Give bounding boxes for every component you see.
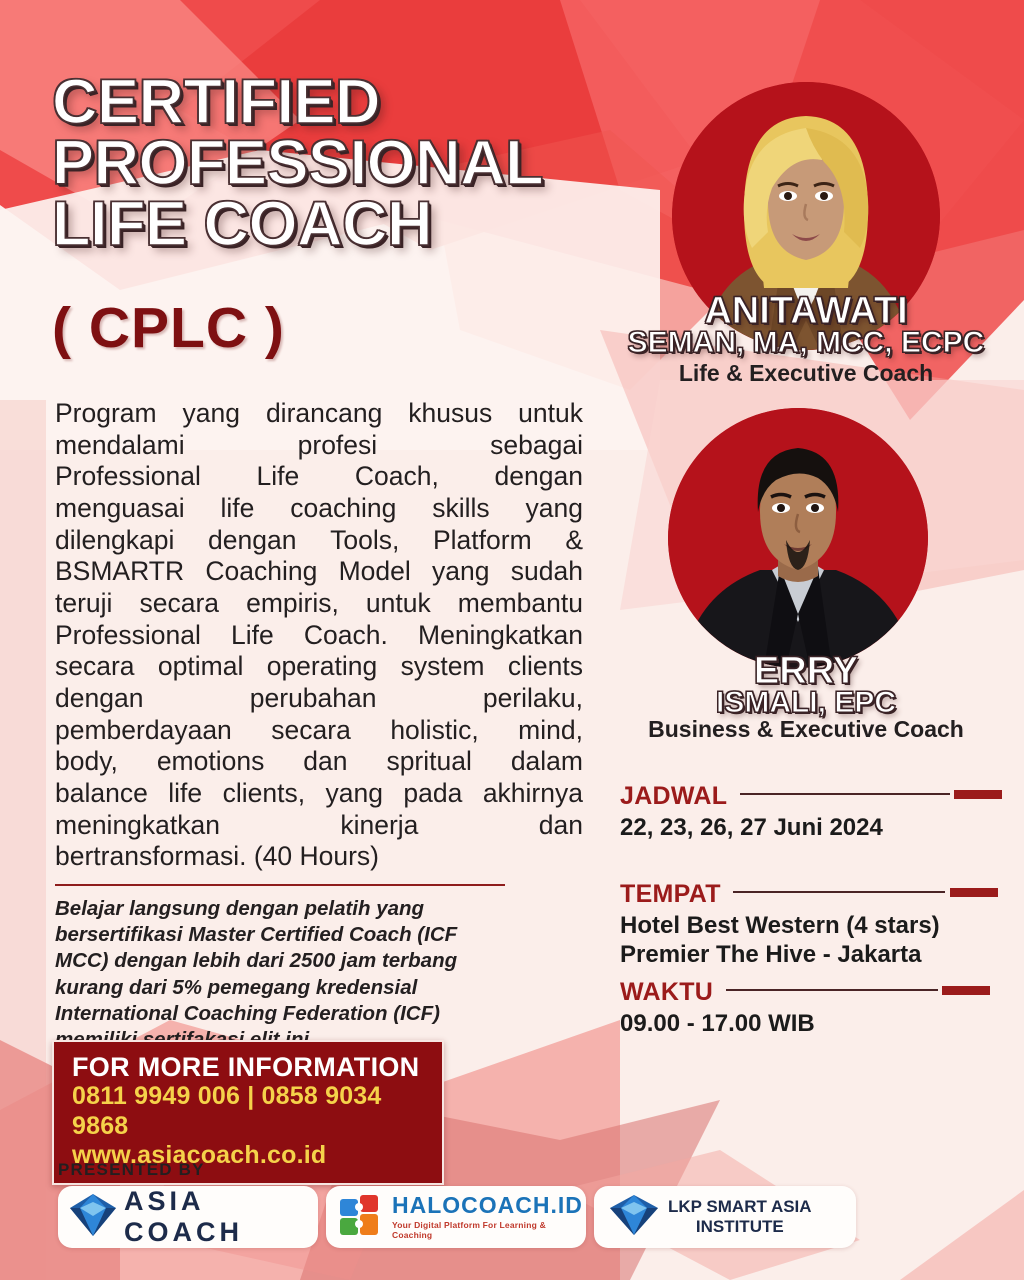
desc-word: emotions [157, 746, 265, 778]
desc-word: spritual [386, 746, 471, 778]
desc-word: yang [326, 778, 383, 810]
desc-word: empiris, [246, 588, 339, 620]
desc-word: dalam [511, 746, 583, 778]
desc-line: terujisecaraempiris,untukmembantu [55, 588, 583, 620]
desc-word: Model [339, 556, 411, 588]
desc-word: untuk [518, 398, 583, 430]
headline-line-1: CERTIFIED [52, 72, 692, 133]
desc-word: akhirnya [483, 778, 583, 810]
divider-rule [55, 884, 505, 886]
speaker-portrait-illustration [668, 408, 928, 668]
logo-lkp-smart-asia[interactable]: LKP SMART ASIA INSTITUTE [594, 1186, 856, 1248]
logo-lkp-textblock: LKP SMART ASIA INSTITUTE [668, 1197, 812, 1236]
desc-line: Programyangdirancangkhususuntuk [55, 398, 583, 430]
desc-word: membantu [458, 588, 583, 620]
desc-word: dengan [55, 683, 143, 715]
desc-word: teruji [55, 588, 112, 620]
desc-line: balancelifeclients,yangpadaakhirnya [55, 778, 583, 810]
desc-word: sudah [511, 556, 583, 588]
desc-word: secara [140, 588, 220, 620]
desc-line: denganperubahanperilaku, [55, 683, 583, 715]
headline-line-2: PROFESSIONAL [52, 133, 692, 194]
desc-word: dan [539, 810, 583, 842]
note-line: bersertifikasi Master Certified Coach (I… [55, 922, 485, 948]
logo-halocoach[interactable]: HALOCOACH.ID Your Digital Platform For L… [326, 1186, 586, 1248]
desc-word: clients [508, 651, 583, 683]
desc-word: Professional [55, 461, 201, 493]
logo-halocoach-tagline: Your Digital Platform For Learning & Coa… [392, 1220, 586, 1240]
desc-line-last: bertransformasi. (40 Hours) [55, 841, 583, 873]
speaker-role-anitawati: Life & Executive Coach [606, 360, 1006, 387]
desc-word: clients, [223, 778, 305, 810]
desc-word: profesi [298, 430, 378, 462]
desc-line: menguasailifecoachingskillsyang [55, 493, 583, 525]
desc-word: yang [183, 398, 240, 430]
schedule-label: JADWAL [620, 782, 727, 811]
desc-word: Life [257, 461, 300, 493]
schedule-dash [942, 986, 990, 995]
poster-root: CERTIFIED PROFESSIONAL LIFE COACH ( CPLC… [0, 0, 1024, 1280]
desc-line: secaraoptimaloperatingsystemclients [55, 651, 583, 683]
desc-word: holistic, [390, 715, 478, 747]
desc-word: body, [55, 746, 118, 778]
schedule-waktu-header: WAKTU [620, 978, 990, 1007]
diamond-icon [70, 1194, 116, 1241]
desc-word: sebagai [490, 430, 583, 462]
poster-headline: CERTIFIED PROFESSIONAL LIFE COACH [52, 72, 692, 255]
logo-asia-coach[interactable]: ASIA COACH [58, 1186, 318, 1248]
desc-word: life [221, 493, 255, 525]
desc-word: optimal [158, 651, 243, 683]
schedule-label: WAKTU [620, 978, 713, 1007]
desc-word: & [565, 525, 583, 557]
desc-line: ProfessionalLifeCoach.Meningkatkan [55, 620, 583, 652]
logo-lkp-line1: LKP SMART ASIA [668, 1197, 812, 1217]
desc-word: dan [303, 746, 347, 778]
speaker-role-erry: Business & Executive Coach [606, 716, 1006, 743]
desc-line: meningkatkankinerjadan [55, 810, 583, 842]
desc-word: coaching [290, 493, 396, 525]
desc-word: skills [432, 493, 489, 525]
desc-word: Coach. [304, 620, 388, 652]
program-description: Programyangdirancangkhususuntuk mendalam… [55, 398, 583, 873]
desc-line: pemberdayaansecaraholistic,mind, [55, 715, 583, 747]
schedule-rule [733, 891, 945, 893]
schedule-rule [740, 793, 950, 795]
acronym-title: ( CPLC ) [52, 300, 285, 357]
desc-word: secara [271, 715, 351, 747]
desc-word: khusus [408, 398, 492, 430]
schedule-rule [726, 989, 938, 991]
desc-line: mendalamiprofesisebagai [55, 430, 583, 462]
desc-word: Platform [433, 525, 532, 557]
schedule-waktu: WAKTU 09.00 - 17.00 WIB [620, 978, 990, 1038]
note-line: MCC) dengan lebih dari 2500 jam terbang [55, 948, 485, 974]
desc-word: perilaku, [483, 683, 583, 715]
contact-phones[interactable]: 0811 9949 006 | 0858 9034 9868 [72, 1082, 428, 1141]
desc-line: BSMARTRCoachingModelyangsudah [55, 556, 583, 588]
desc-word: system [401, 651, 485, 683]
desc-word: dengan [495, 461, 583, 493]
desc-word: perubahan [250, 683, 377, 715]
desc-word: Life [231, 620, 274, 652]
logo-lkp-line2: INSTITUTE [668, 1217, 812, 1237]
schedule-label: TEMPAT [620, 880, 721, 909]
desc-word: Meningkatkan [418, 620, 583, 652]
desc-line: dilengkapidenganTools,Platform& [55, 525, 583, 557]
logo-halocoach-textblock: HALOCOACH.ID Your Digital Platform For L… [392, 1194, 586, 1240]
desc-word: menguasai [55, 493, 185, 525]
presented-by-label: PRESENTED BY [58, 1160, 205, 1180]
speaker-photo-erry [668, 408, 928, 668]
contact-heading: FOR MORE INFORMATION [72, 1052, 428, 1082]
desc-word: balance [55, 778, 148, 810]
desc-word: Professional [55, 620, 201, 652]
puzzle-icon [338, 1193, 384, 1242]
logo-asia-coach-text: ASIA COACH [124, 1186, 318, 1248]
desc-word: BSMARTR [55, 556, 184, 588]
desc-word: dengan [208, 525, 296, 557]
desc-word: meningkatkan [55, 810, 220, 842]
desc-word: dirancang [266, 398, 382, 430]
desc-line: ProfessionalLifeCoach,dengan [55, 461, 583, 493]
desc-word: pada [403, 778, 462, 810]
speaker-credentials-anitawati: SEMAN, MA, MCC, ECPC [606, 326, 1006, 360]
desc-word: Tools, [330, 525, 399, 557]
schedule-tempat-value-1: Hotel Best Western (4 stars) [620, 911, 998, 940]
desc-word: mendalami [55, 430, 185, 462]
schedule-tempat: TEMPAT Hotel Best Western (4 stars) Prem… [620, 880, 998, 970]
note-line: International Coaching Federation (ICF) [55, 1001, 485, 1027]
schedule-tempat-value-2: Premier The Hive - Jakarta [620, 940, 998, 969]
desc-word: operating [267, 651, 378, 683]
desc-word: yang [432, 556, 489, 588]
schedule-jadwal-header: JADWAL [620, 782, 1002, 811]
schedule-waktu-value: 09.00 - 17.00 WIB [620, 1009, 990, 1038]
desc-word: pemberdayaan [55, 715, 232, 747]
desc-word: secara [55, 651, 135, 683]
headline-line-3: LIFE COACH [52, 194, 692, 255]
desc-word: Coaching [205, 556, 317, 588]
desc-word: untuk [366, 588, 431, 620]
desc-word: kinerja [340, 810, 418, 842]
schedule-tempat-header: TEMPAT [620, 880, 998, 909]
desc-word: mind, [518, 715, 583, 747]
logo-halocoach-text: HALOCOACH.ID [392, 1192, 583, 1218]
schedule-dash [954, 790, 1002, 799]
desc-word: yang [526, 493, 583, 525]
speaker-credentials-erry: ISMALI, EPC [606, 686, 1006, 720]
desc-word: Coach, [355, 461, 439, 493]
note-line: Belajar langsung dengan pelatih yang [55, 896, 485, 922]
desc-line: body,emotionsdanspritualdalam [55, 746, 583, 778]
schedule-jadwal: JADWAL 22, 23, 26, 27 Juni 2024 [620, 782, 1002, 842]
desc-word: dilengkapi [55, 525, 174, 557]
desc-word: life [168, 778, 202, 810]
desc-word: Program [55, 398, 157, 430]
schedule-dash [950, 888, 998, 897]
schedule-jadwal-value: 22, 23, 26, 27 Juni 2024 [620, 813, 1002, 842]
diamond-icon [610, 1195, 658, 1240]
trainer-note: Belajar langsung dengan pelatih yang ber… [55, 896, 485, 1053]
note-line: kurang dari 5% pemegang kredensial [55, 975, 485, 1001]
